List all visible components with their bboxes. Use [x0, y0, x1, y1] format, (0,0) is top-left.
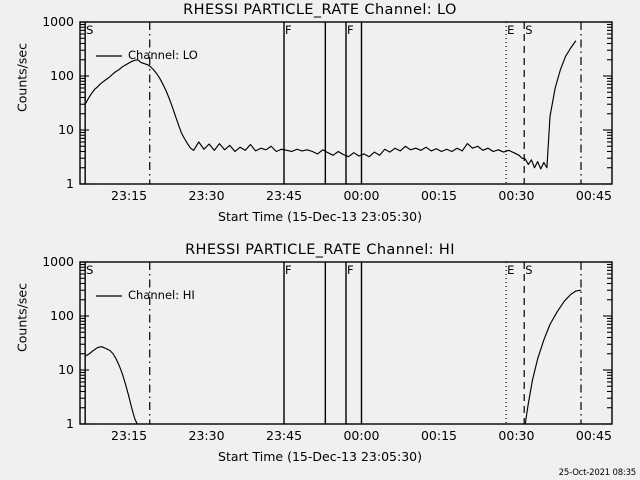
- plot-panel-hi: RHESSI PARTICLE_RATE Channel: HI Counts/…: [0, 240, 640, 480]
- x-tick-label: 23:45: [254, 428, 314, 443]
- event-marker-label-f: F: [285, 263, 292, 277]
- x-tick-label: 00:15: [409, 188, 469, 203]
- y-tick-label: 10: [8, 362, 74, 377]
- x-tick-label: 23:15: [99, 188, 159, 203]
- event-marker-label-e: E: [507, 23, 514, 37]
- plot-panel-lo: RHESSI PARTICLE_RATE Channel: LO Counts/…: [0, 0, 640, 240]
- event-marker-label-s: S: [525, 23, 532, 37]
- y-tick-label: 1: [8, 176, 74, 191]
- x-tick-label: 00:30: [486, 428, 546, 443]
- x-tick-label: 23:30: [177, 428, 237, 443]
- legend-label: Channel: HI: [128, 288, 195, 302]
- legend-label: Channel: LO: [128, 48, 198, 62]
- x-tick-label: 00:00: [331, 428, 391, 443]
- x-tick-label: 23:30: [177, 188, 237, 203]
- event-marker-label-e: E: [507, 263, 514, 277]
- y-tick-label: 10: [8, 122, 74, 137]
- generation-timestamp: 25-Oct-2021 08:35: [559, 468, 636, 478]
- y-tick-label: 1: [8, 416, 74, 431]
- event-marker-label-s: S: [86, 23, 93, 37]
- x-tick-label: 23:45: [254, 188, 314, 203]
- y-tick-label: 1000: [8, 254, 74, 269]
- y-tick-label: 100: [8, 68, 74, 83]
- y-tick-label: 1000: [8, 14, 74, 29]
- x-axis-title: Start Time (15-Dec-13 23:05:30): [0, 209, 640, 224]
- y-tick-label: 100: [8, 308, 74, 323]
- x-tick-label: 00:15: [409, 428, 469, 443]
- event-marker-label-s: S: [525, 263, 532, 277]
- x-axis-title: Start Time (15-Dec-13 23:05:30): [0, 449, 640, 464]
- x-tick-label: 00:45: [564, 428, 624, 443]
- plot-canvas-hi: [0, 240, 640, 480]
- rhessi-particle-rate-figure: RHESSI PARTICLE_RATE Channel: LO Counts/…: [0, 0, 640, 480]
- plot-canvas-lo: [0, 0, 640, 240]
- x-tick-label: 23:15: [99, 428, 159, 443]
- x-tick-label: 00:45: [564, 188, 624, 203]
- event-marker-label-f: F: [347, 263, 354, 277]
- event-marker-label-f: F: [285, 23, 292, 37]
- event-marker-label-s: S: [86, 263, 93, 277]
- event-marker-label-f: F: [347, 23, 354, 37]
- x-tick-label: 00:00: [331, 188, 391, 203]
- x-tick-label: 00:30: [486, 188, 546, 203]
